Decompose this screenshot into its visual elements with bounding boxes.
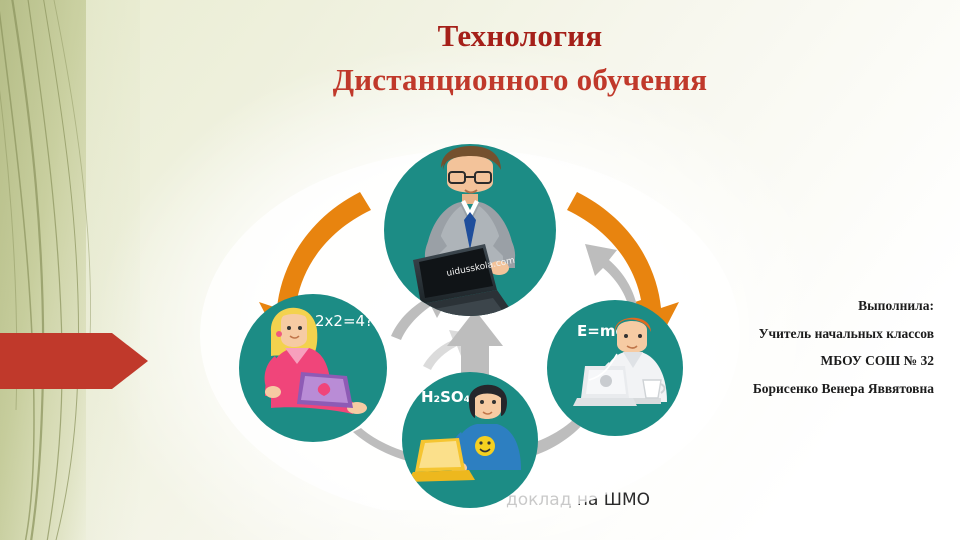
page-title-line-1: Технология	[210, 14, 830, 58]
left-olive-band-soft	[0, 0, 140, 540]
girl-math-node: 2x2=4?	[239, 294, 387, 442]
girl-chemistry-node-label: H₂SO₄	[421, 388, 470, 406]
cycle-diagram: uidusskola.com E=mc²	[185, 140, 755, 510]
page-title: Технология Дистанционного обучения	[210, 14, 830, 102]
red-arrow-banner	[0, 333, 148, 389]
girl-chemistry-node: H₂SO₄	[402, 372, 538, 508]
slide: Технология Дистанционного обучения Выпол…	[0, 0, 960, 540]
boy-physics-node: E=mc²	[547, 300, 683, 436]
page-title-line-2: Дистанционного обучения	[210, 58, 830, 102]
